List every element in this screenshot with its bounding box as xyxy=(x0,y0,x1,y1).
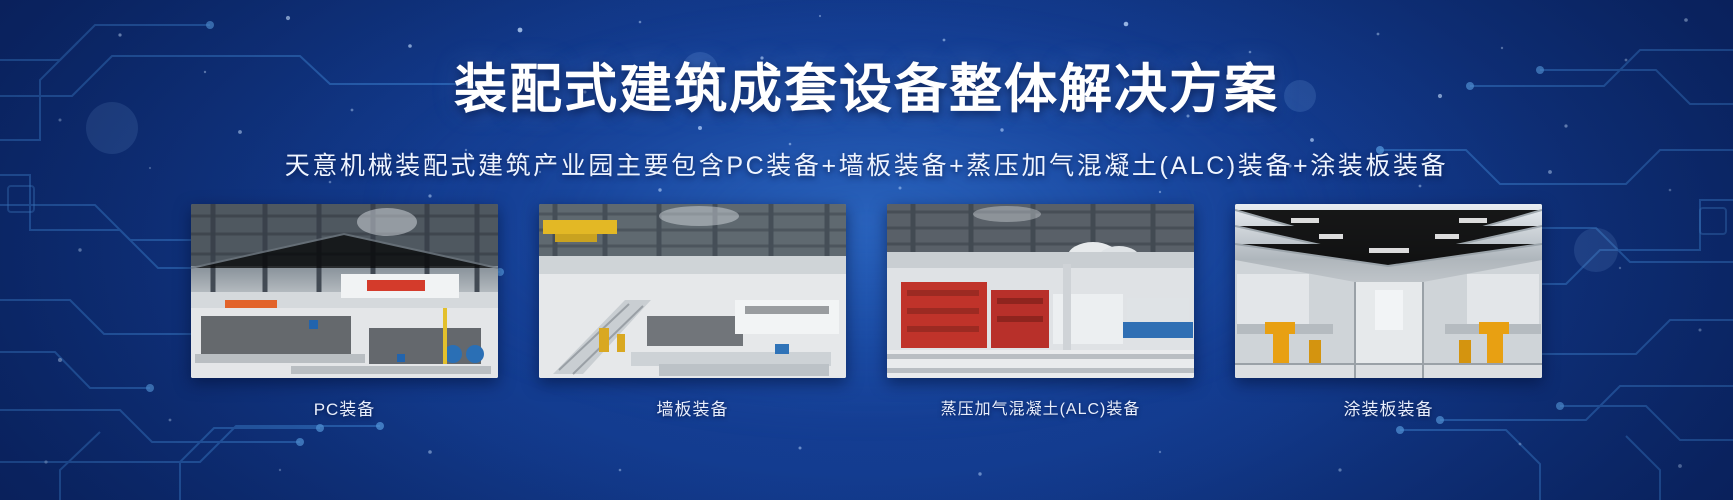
equipment-card[interactable]: PC装备 xyxy=(191,204,498,420)
equipment-caption: PC装备 xyxy=(314,395,376,420)
coating-board-equipment-photo[interactable] xyxy=(1235,204,1542,378)
alc-equipment-photo[interactable] xyxy=(887,204,1194,378)
page-subtitle: 天意机械装配式建筑产业园主要包含PC装备+墙板装备+蒸压加气混凝土(ALC)装备… xyxy=(0,150,1733,183)
equipment-card[interactable]: 涂装板装备 xyxy=(1235,204,1542,420)
equipment-card[interactable]: 墙板装备 xyxy=(539,204,846,420)
equipment-caption: 涂装板装备 xyxy=(1344,395,1434,420)
equipment-card-list: PC装备 xyxy=(0,204,1733,420)
pc-equipment-photo[interactable] xyxy=(191,204,498,378)
equipment-card[interactable]: 蒸压加气混凝土(ALC)装备 xyxy=(887,204,1194,419)
page-title: 装配式建筑成套设备整体解决方案 xyxy=(0,62,1733,118)
promo-banner: 装配式建筑成套设备整体解决方案 天意机械装配式建筑产业园主要包含PC装备+墙板装… xyxy=(0,0,1733,500)
wallboard-equipment-photo[interactable] xyxy=(539,204,846,378)
equipment-caption: 墙板装备 xyxy=(657,395,729,420)
equipment-caption: 蒸压加气混凝土(ALC)装备 xyxy=(941,395,1141,419)
